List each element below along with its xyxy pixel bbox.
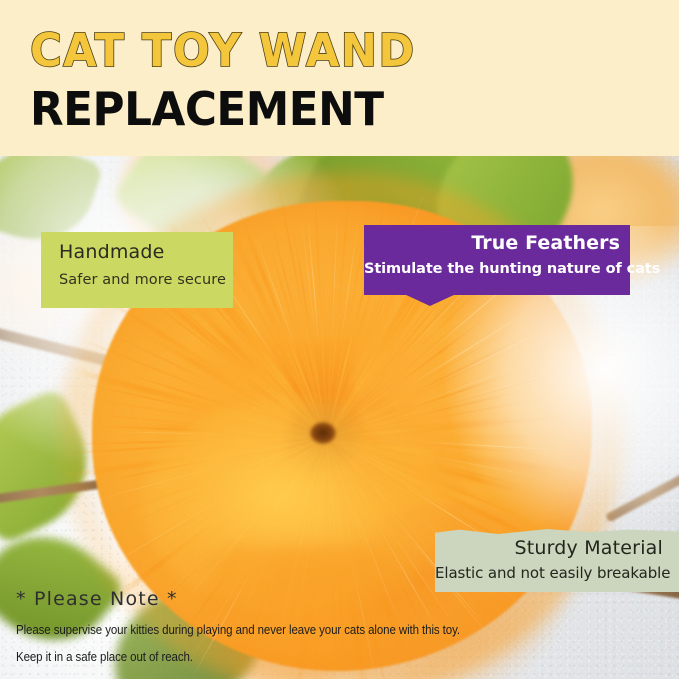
header-banner: CAT TOY WAND REPLACEMENT [0,0,679,156]
page-subtitle: REPLACEMENT [30,86,384,132]
callout-handmade: Handmade Safer and more secure [41,232,233,308]
feather-hub [310,422,336,444]
note-line-1: Please supervise your kitties during pla… [16,623,458,637]
please-note-section: * Please Note * Please supervise your ki… [16,588,496,664]
callout-true-feathers: True Feathers Stimulate the hunting natu… [364,225,630,295]
callout-sturdy-material-subtitle: Elastic and not easily breakable [435,564,663,582]
callout-handmade-subtitle: Safer and more secure [59,272,233,288]
callout-pointer-icon [404,294,456,306]
page-title: CAT TOY WAND [30,28,416,73]
product-infographic: CAT TOY WAND REPLACEMENT Handmade Safer … [0,0,679,679]
callout-sturdy-material-title: Sturdy Material [435,536,663,561]
callout-true-feathers-title: True Feathers [364,231,620,256]
callout-true-feathers-subtitle: Stimulate the hunting nature of cats [364,261,620,277]
note-line-2: Keep it in a safe place out of reach. [16,650,458,664]
callout-handmade-title: Handmade [59,241,233,265]
note-title: * Please Note * [16,588,496,610]
callout-sturdy-material: Sturdy Material Elastic and not easily b… [435,529,679,592]
